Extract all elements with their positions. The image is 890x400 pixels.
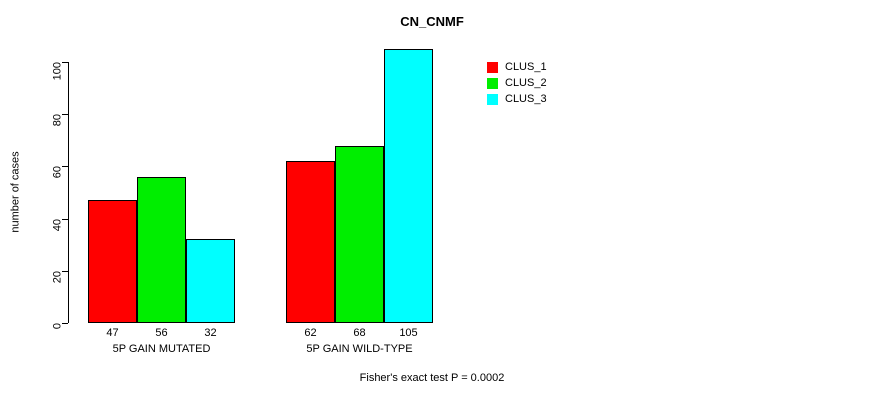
legend-item: CLUS_1: [487, 59, 547, 75]
legend-swatch-icon: [487, 94, 498, 105]
footnote-text: Fisher's exact test P = 0.0002: [307, 372, 557, 385]
bar: [88, 200, 137, 323]
chart-legend: CLUS_1CLUS_2CLUS_3: [487, 59, 547, 107]
legend-swatch-icon: [487, 62, 498, 73]
y-axis-tick-label: 0: [53, 323, 64, 329]
legend-item-label: CLUS_3: [505, 94, 547, 105]
bar-chart-figure: CN_CNMF 020406080100 number of cases 475…: [0, 0, 890, 400]
bar-value-label: 56: [137, 327, 186, 339]
group-label: 5P GAIN WILD-TYPE: [246, 343, 473, 356]
legend-item-label: CLUS_1: [505, 62, 547, 73]
legend-item: CLUS_2: [487, 75, 547, 91]
legend-item: CLUS_3: [487, 91, 547, 107]
bar: [286, 161, 335, 323]
bars-layer: [0, 0, 890, 323]
legend-swatch-icon: [487, 78, 498, 89]
bar: [186, 239, 235, 323]
bar-value-label: 68: [335, 327, 384, 339]
bar-value-label: 47: [88, 327, 137, 339]
legend-item-label: CLUS_2: [505, 78, 547, 89]
group-label: 5P GAIN MUTATED: [48, 343, 275, 356]
bar: [335, 146, 384, 323]
bar: [137, 177, 186, 323]
bar-value-label: 62: [286, 327, 335, 339]
bar-value-label: 32: [186, 327, 235, 339]
bar: [384, 49, 433, 323]
bar-value-label: 105: [384, 327, 433, 339]
